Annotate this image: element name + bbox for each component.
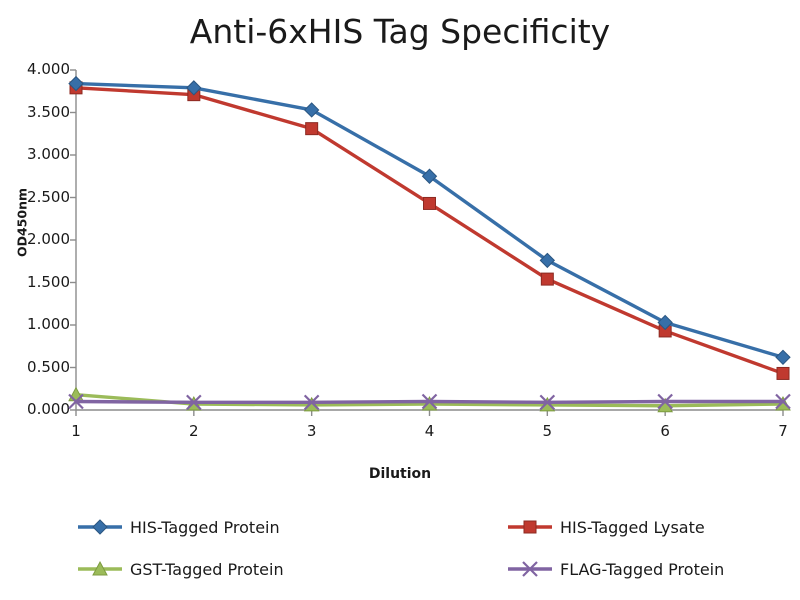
x-axis-title: Dilution (0, 466, 800, 482)
series-line (76, 88, 783, 374)
data-point-marker (541, 273, 553, 285)
legend-item[interactable]: HIS-Tagged Protein (76, 514, 280, 540)
data-point-marker (776, 350, 790, 364)
legend-item-label: GST-Tagged Protein (130, 560, 284, 579)
data-point-marker (424, 197, 436, 209)
data-point-marker (305, 103, 319, 117)
series-line (76, 84, 783, 358)
legend-item[interactable]: GST-Tagged Protein (76, 556, 284, 582)
cross-marker-icon (506, 560, 554, 578)
data-point-marker (306, 123, 318, 135)
series-gst-tagged-protein (69, 388, 790, 412)
legend-item-label: HIS-Tagged Protein (130, 518, 280, 537)
legend-item[interactable]: FLAG-Tagged Protein (506, 556, 724, 582)
series-his-tagged-protein (69, 77, 790, 365)
data-point-marker (777, 367, 789, 379)
triangle-marker-icon (76, 560, 124, 578)
legend-item[interactable]: HIS-Tagged Lysate (506, 514, 705, 540)
series-his-tagged-lysate (70, 82, 789, 380)
chart-legend: HIS-Tagged ProteinHIS-Tagged LysateGST-T… (36, 508, 776, 592)
legend-item-label: HIS-Tagged Lysate (560, 518, 705, 537)
chart-container: Anti-6xHIS Tag Specificity OD450nm 4.000… (0, 0, 800, 600)
legend-item-label: FLAG-Tagged Protein (560, 560, 724, 579)
diamond-marker-icon (76, 518, 124, 536)
square-marker-icon (506, 518, 554, 536)
